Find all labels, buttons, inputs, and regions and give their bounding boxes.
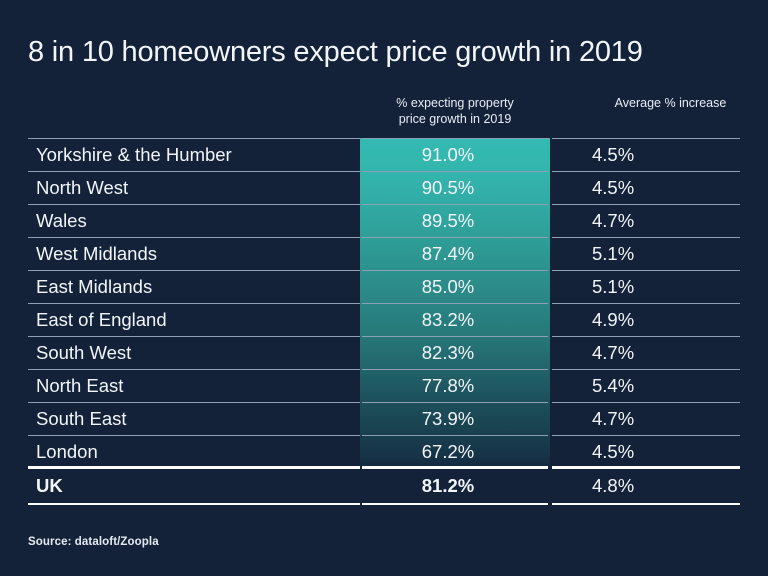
row-rule xyxy=(28,204,360,205)
cell-region-name: West Midlands xyxy=(36,237,356,270)
cell-average-increase: 5.4% xyxy=(566,369,766,402)
row-rule xyxy=(552,402,740,403)
cell-region-name: North East xyxy=(36,369,356,402)
row-rule xyxy=(362,303,548,304)
cell-percent-expecting: 91.0% xyxy=(360,138,550,171)
table-row: North West90.5%4.5% xyxy=(28,171,740,204)
data-table: Yorkshire & the Humber91.0%4.5%North Wes… xyxy=(28,138,740,503)
column-headers: % expecting property price growth in 201… xyxy=(28,96,740,134)
row-rule xyxy=(28,303,360,304)
cell-percent-expecting: 90.5% xyxy=(360,171,550,204)
column-header-percent-line2: price growth in 2019 xyxy=(399,112,512,126)
cell-percent-expecting: 85.0% xyxy=(360,270,550,303)
cell-average-increase: 4.7% xyxy=(566,204,766,237)
row-rule xyxy=(362,435,548,436)
cell-average-increase: 4.9% xyxy=(566,303,766,336)
table-row: East Midlands85.0%5.1% xyxy=(28,270,740,303)
cell-region-name: South East xyxy=(36,402,356,435)
row-rule xyxy=(552,336,740,337)
row-rule xyxy=(552,369,740,370)
row-rule xyxy=(552,138,740,139)
row-rule xyxy=(362,270,548,271)
cell-region-name: East Midlands xyxy=(36,270,356,303)
column-header-percent-expecting: % expecting property price growth in 201… xyxy=(360,96,550,127)
table-row: West Midlands87.4%5.1% xyxy=(28,237,740,270)
cell-average-increase: 4.7% xyxy=(566,336,766,369)
row-rule xyxy=(362,402,548,403)
row-rule xyxy=(28,138,360,139)
cell-average-increase: 4.8% xyxy=(566,468,766,503)
row-rule-emphasis-top xyxy=(28,466,360,469)
row-rule xyxy=(552,204,740,205)
row-rule xyxy=(362,171,548,172)
cell-region-name: East of England xyxy=(36,303,356,336)
cell-percent-expecting: 67.2% xyxy=(360,435,550,468)
table-row: East of England83.2%4.9% xyxy=(28,303,740,336)
row-rule xyxy=(552,171,740,172)
row-rule xyxy=(28,435,360,436)
table-row: London67.2%4.5% xyxy=(28,435,740,468)
row-rule xyxy=(552,435,740,436)
cell-average-increase: 4.5% xyxy=(566,435,766,468)
row-rule xyxy=(28,369,360,370)
row-rule xyxy=(362,237,548,238)
cell-percent-expecting: 89.5% xyxy=(360,204,550,237)
cell-percent-expecting: 77.8% xyxy=(360,369,550,402)
row-rule xyxy=(552,237,740,238)
row-rule xyxy=(362,369,548,370)
table-row: North East77.8%5.4% xyxy=(28,369,740,402)
row-rule xyxy=(362,336,548,337)
page-title: 8 in 10 homeowners expect price growth i… xyxy=(28,36,744,69)
row-rule-emphasis-top xyxy=(362,466,548,469)
row-rule-emphasis-bottom xyxy=(552,503,740,506)
row-rule-emphasis-bottom xyxy=(362,503,548,506)
cell-average-increase: 4.5% xyxy=(566,171,766,204)
cell-average-increase: 5.1% xyxy=(566,237,766,270)
row-rule xyxy=(552,303,740,304)
table-row: Wales89.5%4.7% xyxy=(28,204,740,237)
cell-region-name: Yorkshire & the Humber xyxy=(36,138,356,171)
row-rule-emphasis-bottom xyxy=(28,503,360,506)
row-rule xyxy=(28,402,360,403)
cell-region-name: North West xyxy=(36,171,356,204)
infographic-canvas: 8 in 10 homeowners expect price growth i… xyxy=(0,0,768,576)
column-header-percent-line1: % expecting property xyxy=(396,96,513,110)
cell-region-name: London xyxy=(36,435,356,468)
table-row: South West82.3%4.7% xyxy=(28,336,740,369)
cell-percent-expecting: 81.2% xyxy=(360,468,550,503)
cell-percent-expecting: 73.9% xyxy=(360,402,550,435)
row-rule xyxy=(28,336,360,337)
cell-region-name: Wales xyxy=(36,204,356,237)
row-rule xyxy=(28,171,360,172)
row-rule xyxy=(552,270,740,271)
cell-percent-expecting: 83.2% xyxy=(360,303,550,336)
cell-percent-expecting: 87.4% xyxy=(360,237,550,270)
table-row: South East73.9%4.7% xyxy=(28,402,740,435)
table-row-summary: UK81.2%4.8% xyxy=(28,468,740,503)
cell-region-name: UK xyxy=(36,468,356,503)
cell-average-increase: 4.5% xyxy=(566,138,766,171)
cell-percent-expecting: 82.3% xyxy=(360,336,550,369)
column-header-average-increase: Average % increase xyxy=(573,96,768,112)
table-row: Yorkshire & the Humber91.0%4.5% xyxy=(28,138,740,171)
cell-region-name: South West xyxy=(36,336,356,369)
row-rule-emphasis-top xyxy=(552,466,740,469)
cell-average-increase: 5.1% xyxy=(566,270,766,303)
source-attribution: Source: dataloft/Zoopla xyxy=(28,536,159,548)
cell-average-increase: 4.7% xyxy=(566,402,766,435)
row-rule xyxy=(362,204,548,205)
row-rule xyxy=(28,270,360,271)
row-rule xyxy=(362,138,548,139)
row-rule xyxy=(28,237,360,238)
